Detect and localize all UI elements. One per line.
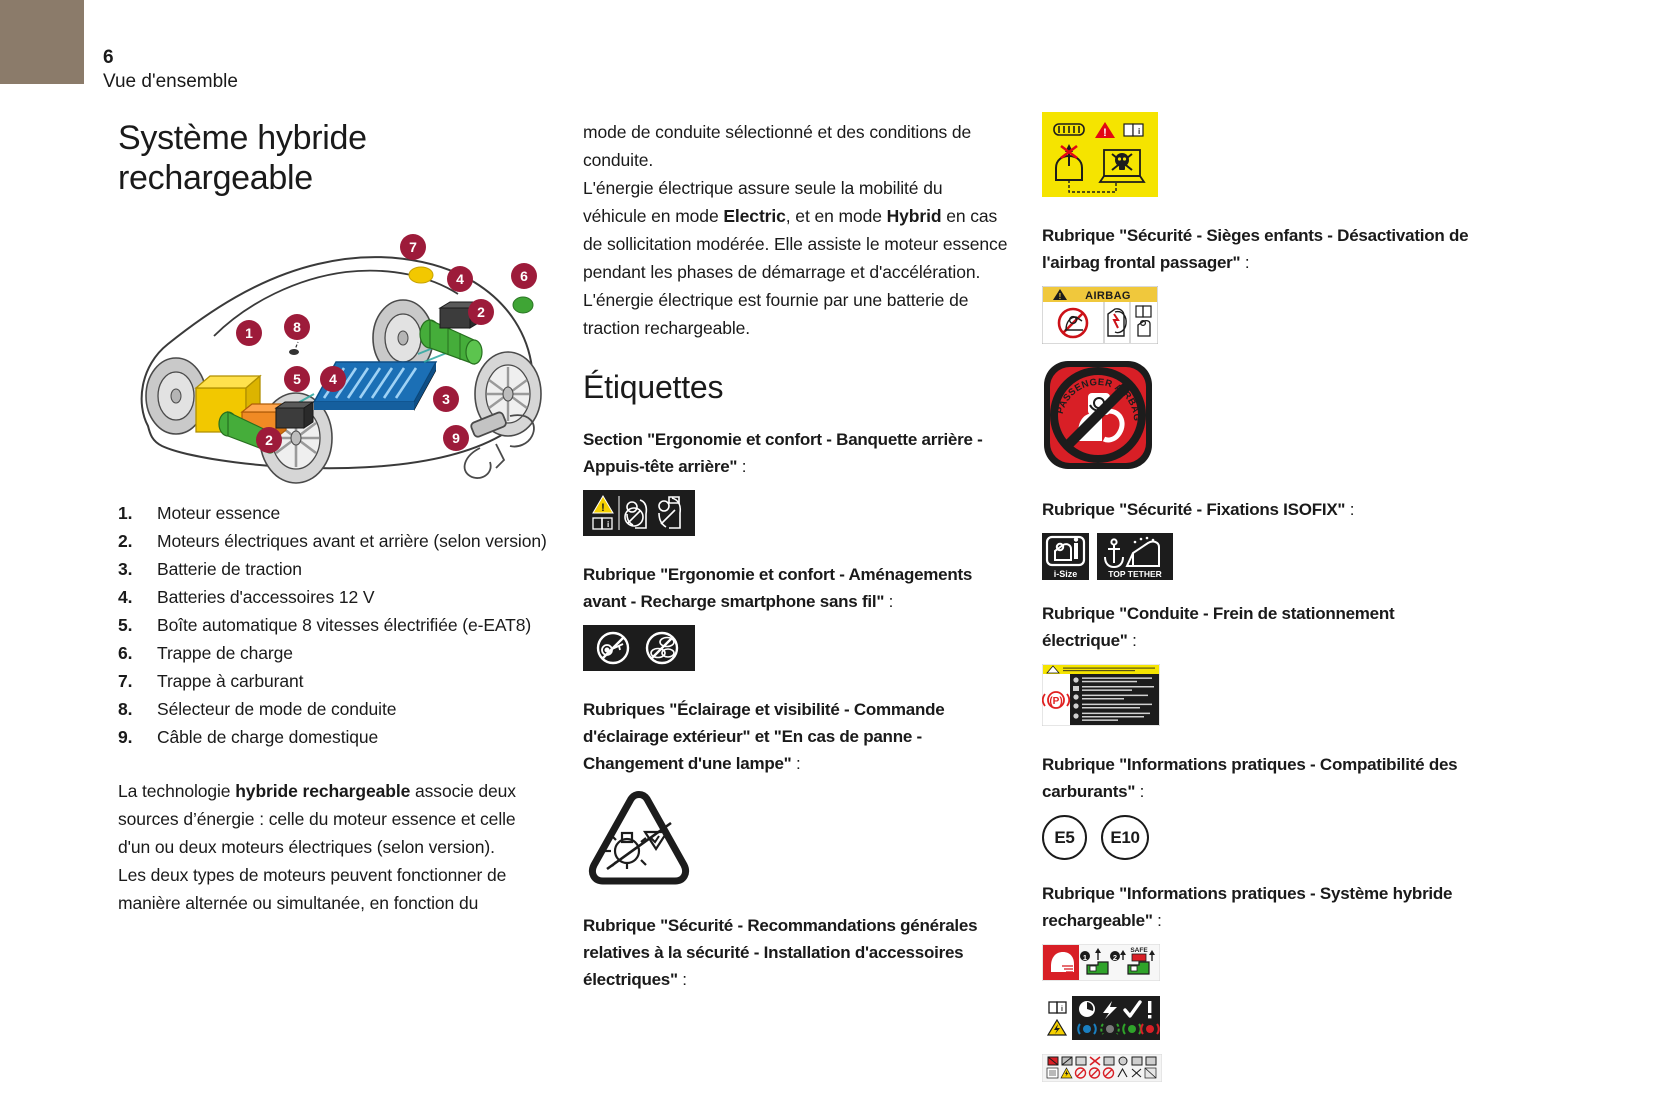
airbag-sunvisor-label: ! AIRBAG [1042, 286, 1482, 349]
page-title: Système hybride rechargeable [118, 118, 548, 198]
labels-heading: Étiquettes [583, 368, 1008, 406]
rear-headrest-warning-label: ! i [583, 490, 1008, 541]
page-header-color-tab [0, 0, 84, 84]
motors-operation-paragraph: Les deux types de moteurs peuvent foncti… [118, 861, 548, 917]
paragraph-pre: La technologie [118, 781, 235, 801]
left-column: Système hybride rechargeable [118, 118, 548, 917]
page-header: 6 Vue d'ensemble [103, 48, 238, 94]
continuation-paragraph-3: L'énergie électrique est fournie par une… [583, 286, 1008, 342]
i-size-label: i-Size [1042, 533, 1089, 580]
exclamation-icon [1148, 1001, 1151, 1018]
rescue-safe-text: SAFE [1130, 947, 1148, 954]
isofix-labels: i-Size TOP TETHER [1042, 533, 1482, 580]
mode-electric-bold: Electric [723, 206, 785, 226]
plug-in-hybrid-vehicle-cutaway-diagram: 7 4 6 2 8 1 5 4 3 2 9 [118, 216, 548, 491]
list-item-label: Boîte automatique 8 vitesses électrifiée… [157, 615, 531, 635]
list-item: 4.Batteries d'accessoires 12 V [118, 583, 548, 611]
list-item-number: 4. [118, 583, 148, 611]
label-caption-lamp-change: Rubriques "Éclairage et visibilité - Com… [583, 696, 1008, 777]
continuation-paragraph-1: mode de conduite sélectionné et des cond… [583, 118, 1008, 174]
label-caption-airbag-deactivation: Rubrique "Sécurité - Sièges enfants - Dé… [1042, 222, 1482, 276]
label-caption-isofix: Rubrique "Sécurité - Fixations ISOFIX" : [1042, 496, 1482, 523]
svg-text:5: 5 [293, 371, 301, 387]
clock-icon [1079, 1001, 1095, 1017]
list-item: 9.Câble de charge domestique [118, 723, 548, 751]
parking-brake-p-text: (P) [1049, 696, 1062, 707]
lamp-change-warning-triangle [583, 789, 1008, 892]
electric-parking-brake-warning-label: (P) [1042, 664, 1482, 731]
section-name: Vue d'ensemble [103, 70, 238, 94]
airbag-label-text: AIRBAG [1085, 290, 1131, 302]
list-item-label: Moteurs électriques avant et arrière (se… [157, 531, 547, 551]
label-caption-rear-headrest: Section "Ergonomie et confort - Banquett… [583, 426, 1008, 480]
callout-3: 3 [433, 386, 459, 412]
svg-text:!: ! [601, 502, 605, 514]
paragraph-mid: , et en mode [786, 206, 887, 226]
mode-hybrid-bold: Hybrid [887, 206, 942, 226]
top-tether-text: TOP TETHER [1108, 569, 1162, 579]
fuel-circle-e5: E5 [1042, 815, 1087, 860]
wireless-charging-no-key-no-coins-label [583, 625, 1008, 676]
list-item: 8.Sélecteur de mode de conduite [118, 695, 548, 723]
list-item-number: 3. [118, 555, 148, 583]
front-accessory-battery-part [276, 402, 313, 428]
label-caption-parking-brake: Rubrique "Conduite - Frein de stationnem… [1042, 600, 1482, 654]
list-item-label: Batteries d'accessoires 12 V [157, 587, 374, 607]
svg-text:7: 7 [409, 239, 417, 255]
list-item: 6.Trappe de charge [118, 639, 548, 667]
list-item: 5.Boîte automatique 8 vitesses électrifi… [118, 611, 548, 639]
fuel-flap-part [409, 267, 433, 283]
svg-text:4: 4 [456, 271, 464, 287]
fuel-circle-e10: E10 [1101, 815, 1149, 860]
list-item: 3.Batterie de traction [118, 555, 548, 583]
callout-6: 6 [511, 263, 537, 289]
list-item-label: Câble de charge domestique [157, 727, 378, 747]
list-item: 2.Moteurs électriques avant et arrière (… [118, 527, 548, 555]
list-item-label: Trappe à carburant [157, 671, 303, 691]
list-item: 1.Moteur essence [118, 499, 548, 527]
fuel-compatibility-circles: E5 E10 [1042, 815, 1482, 860]
callout-4-rear: 4 [447, 266, 473, 292]
svg-text:2: 2 [265, 432, 273, 448]
rescue-step-1: 1 [1083, 953, 1087, 962]
list-item-label: Batterie de traction [157, 559, 302, 579]
list-item-number: 2. [118, 527, 148, 555]
callout-2-rear: 2 [468, 299, 494, 325]
svg-text:9: 9 [452, 430, 460, 446]
svg-text:1: 1 [245, 325, 253, 341]
hybrid-technology-paragraph: La technologie hybride rechargeable asso… [118, 777, 548, 861]
child-seat-airbag-deactivation-yellow-label: ! i [1042, 112, 1482, 202]
high-voltage-safety-strip-label [1042, 1054, 1482, 1087]
page-title-line1: Système hybride [118, 119, 367, 157]
list-item-number: 8. [118, 695, 148, 723]
callout-7: 7 [400, 234, 426, 260]
callout-9: 9 [443, 425, 469, 451]
svg-text:i: i [1061, 1006, 1063, 1013]
list-item-number: 6. [118, 639, 148, 667]
list-item-number: 7. [118, 667, 148, 695]
label-caption-fuel-compatibility: Rubrique "Informations pratiques - Compa… [1042, 751, 1482, 805]
rescue-step-2: 2 [1113, 953, 1117, 962]
list-item-number: 9. [118, 723, 148, 751]
right-column: ! i [1042, 112, 1482, 1087]
middle-column: mode de conduite sélectionné et des cond… [583, 118, 1008, 1003]
list-item-number: 1. [118, 499, 148, 527]
list-item-number: 5. [118, 611, 148, 639]
svg-text:4: 4 [329, 371, 337, 387]
svg-text:!: ! [1103, 127, 1107, 139]
svg-text:i: i [1138, 127, 1140, 136]
svg-text:8: 8 [293, 319, 301, 335]
callout-1: 1 [236, 320, 262, 346]
svg-text:2: 2 [477, 304, 485, 320]
callout-5: 5 [284, 366, 310, 392]
continuation-paragraph-2: L'énergie électrique assure seule la mob… [583, 174, 1008, 286]
top-tether-label: TOP TETHER [1097, 533, 1173, 580]
page-title-line2: rechargeable [118, 159, 313, 197]
charging-status-indicator-label: i [1042, 996, 1482, 1045]
parts-list: 1.Moteur essence 2.Moteurs électriques a… [118, 499, 548, 751]
list-item-label: Moteur essence [157, 503, 280, 523]
label-caption-hybrid-system: Rubrique "Informations pratiques - Systè… [1042, 880, 1482, 934]
svg-text:6: 6 [520, 268, 528, 284]
paragraph-bold: hybride rechargeable [235, 781, 410, 801]
list-item-label: Sélecteur de mode de conduite [157, 699, 396, 719]
list-item: 7.Trappe à carburant [118, 667, 548, 695]
callout-8: 8 [284, 314, 310, 340]
label-caption-wireless-charging: Rubrique "Ergonomie et confort - Aménage… [583, 561, 1008, 615]
charge-flap-part [513, 297, 533, 313]
svg-text:!: ! [1059, 292, 1062, 301]
callout-4-front: 4 [320, 366, 346, 392]
list-item-label: Trappe de charge [157, 643, 293, 663]
svg-text:3: 3 [442, 391, 450, 407]
page-number: 6 [103, 48, 238, 68]
svg-text:i: i [607, 520, 609, 529]
label-caption-electrical-accessories: Rubrique "Sécurité - Recommandations gén… [583, 912, 1008, 993]
hybrid-rescue-label: 1 2 SAFE [1042, 944, 1482, 986]
callout-2-front: 2 [256, 427, 282, 453]
passenger-airbag-round-sticker: PASSENGER AIRBAG [1042, 359, 1482, 476]
i-size-text: i-Size [1054, 569, 1078, 579]
